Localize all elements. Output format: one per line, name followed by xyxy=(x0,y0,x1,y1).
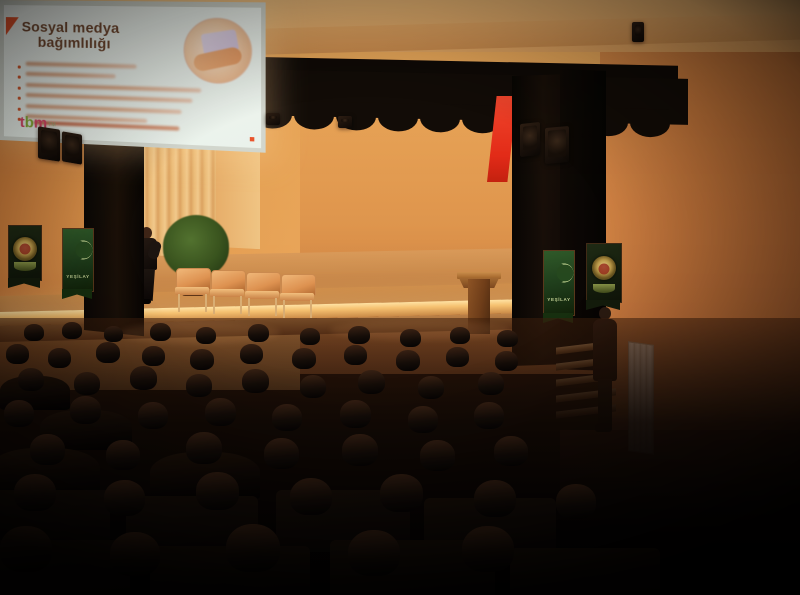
wall-speaker-icon xyxy=(62,131,82,165)
wall-speaker-icon xyxy=(266,113,280,125)
audience-member xyxy=(104,480,145,516)
audience-member xyxy=(186,374,212,397)
crest-banner-right xyxy=(586,243,620,301)
banner-label: YEŞİLAY xyxy=(544,297,574,302)
audience-member xyxy=(446,347,469,367)
bullet-dot-icon xyxy=(18,86,21,89)
bullet-dot-icon xyxy=(18,107,21,110)
audience-member xyxy=(497,330,518,347)
audience-member xyxy=(96,342,120,363)
audience-member xyxy=(494,436,528,466)
audience-member xyxy=(344,345,367,365)
wall-speaker-icon xyxy=(632,22,644,42)
audience-member xyxy=(142,346,165,366)
audience-member xyxy=(130,366,157,390)
crescent-moon-icon xyxy=(69,241,88,260)
audience-member xyxy=(48,348,71,368)
stage-chair xyxy=(176,268,209,314)
audience-member xyxy=(62,322,82,339)
audience-member xyxy=(0,526,52,572)
audience-member xyxy=(348,530,400,576)
stage-chair xyxy=(281,274,314,320)
audience-member xyxy=(358,370,385,394)
audience-member xyxy=(242,369,269,393)
audience-member xyxy=(556,484,596,519)
audience-member xyxy=(205,398,236,426)
audience-member xyxy=(110,532,160,576)
slide-corner-mark xyxy=(250,137,254,141)
audience-member xyxy=(342,434,378,466)
audience-member xyxy=(474,402,504,429)
audience-member xyxy=(14,474,56,511)
green-crescent-banner-left: YEŞİLAY xyxy=(62,228,92,290)
audience-member xyxy=(196,327,216,344)
audience-member xyxy=(396,350,420,371)
audience-member xyxy=(74,372,100,395)
audience-member xyxy=(264,438,299,469)
audience-member xyxy=(340,400,371,428)
audience-member xyxy=(30,434,65,465)
audience-member xyxy=(450,327,470,344)
slide-accent-triangle-icon xyxy=(6,17,19,35)
stage-chair xyxy=(246,272,279,318)
wall-speaker-icon xyxy=(338,116,352,128)
audience-member xyxy=(186,432,222,464)
audience-member xyxy=(240,344,263,364)
emblem-icon xyxy=(13,237,37,261)
audience-member xyxy=(478,372,504,395)
audience-member xyxy=(292,348,316,369)
audience-member xyxy=(190,349,214,370)
audience-member xyxy=(226,524,280,572)
audience-member xyxy=(495,351,518,371)
bullet-dot-icon xyxy=(18,76,21,79)
crescent-moon-icon xyxy=(550,263,569,282)
audience-member xyxy=(272,404,302,431)
audience-member xyxy=(104,326,123,342)
audience-member xyxy=(196,472,239,510)
audience-member xyxy=(300,328,320,345)
audience-member xyxy=(6,344,29,364)
audience-member xyxy=(418,376,444,399)
audience-member xyxy=(420,440,455,471)
audience-member xyxy=(300,375,326,398)
wall-speaker-icon xyxy=(520,122,540,157)
audience-member xyxy=(380,474,423,512)
podium-top xyxy=(457,272,501,279)
audience-member xyxy=(70,396,101,424)
slide-title-line2: bağımlılığı xyxy=(22,34,177,53)
audience-member xyxy=(248,324,269,342)
stage-chair xyxy=(211,270,244,316)
audience-member xyxy=(106,440,140,470)
audience-member xyxy=(138,402,168,429)
green-crescent-banner-right: YEŞİLAY xyxy=(543,250,573,314)
audience-member xyxy=(348,326,370,344)
bullet-dot-icon xyxy=(18,97,21,100)
audience-area xyxy=(0,318,800,595)
audience-member xyxy=(474,480,516,517)
audience-member xyxy=(150,323,171,341)
audience-member xyxy=(18,368,44,391)
photo-scene: Sosyal medya bağımlılığı t b m T xyxy=(0,0,800,595)
wall-speaker-icon xyxy=(545,126,569,164)
audience-member xyxy=(24,324,44,341)
slide-title: Sosyal medya bağımlılığı xyxy=(22,19,177,53)
crest-banner-left xyxy=(8,225,40,279)
tbm-logo-b: b xyxy=(25,116,34,129)
audience-member xyxy=(4,400,34,427)
audience-member xyxy=(400,329,421,347)
bullet-dot-icon xyxy=(18,65,21,68)
emblem-icon xyxy=(592,256,616,280)
audience-member xyxy=(462,526,514,572)
audience-member xyxy=(408,406,438,433)
audience-member xyxy=(290,478,332,515)
wall-speaker-icon xyxy=(38,126,60,161)
banner-label: YEŞİLAY xyxy=(63,274,93,279)
